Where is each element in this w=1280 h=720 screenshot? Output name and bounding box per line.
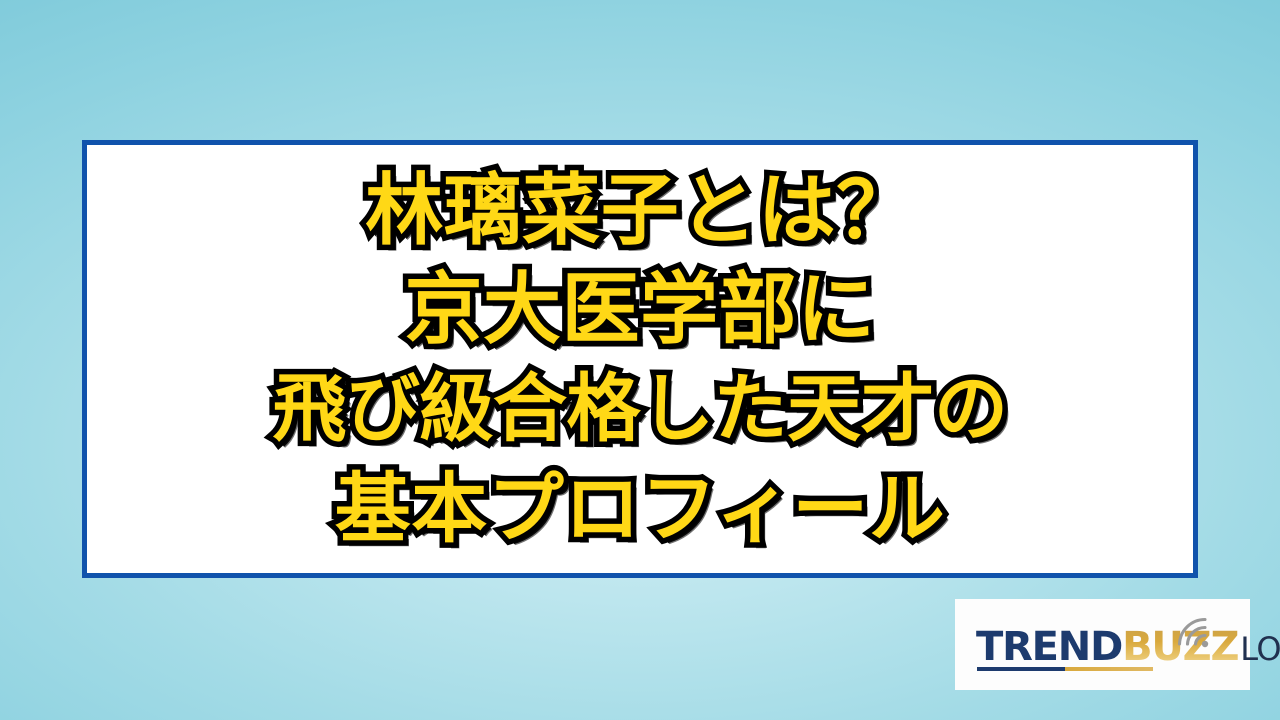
thumbnail-canvas: 林璃菜子とは？ 京大医学部に 飛び級合格した天才の 基本プロフィール TREND… <box>0 0 1280 720</box>
brand-word-log: LOG <box>1240 630 1280 668</box>
wifi-signal-icon <box>1172 613 1212 649</box>
title-text-block: 林璃菜子とは？ 京大医学部に 飛び級合格した天才の 基本プロフィール <box>87 160 1193 558</box>
title-line-2: 京大医学部に <box>87 261 1193 360</box>
brand-logo: TREND BUZZ LOG <box>955 599 1250 690</box>
brand-word-trend: TREND <box>976 624 1122 670</box>
brand-underline-bar <box>977 667 1153 671</box>
title-card: 林璃菜子とは？ 京大医学部に 飛び級合格した天才の 基本プロフィール <box>82 140 1198 578</box>
title-line-3: 飛び級合格した天才の <box>87 360 1193 459</box>
brand-logo-inner: TREND BUZZ LOG <box>976 615 1229 675</box>
title-line-1: 林璃菜子とは？ <box>87 162 1193 261</box>
brand-wordmark: TREND BUZZ LOG <box>976 624 1280 670</box>
title-line-4: 基本プロフィール <box>87 459 1193 558</box>
